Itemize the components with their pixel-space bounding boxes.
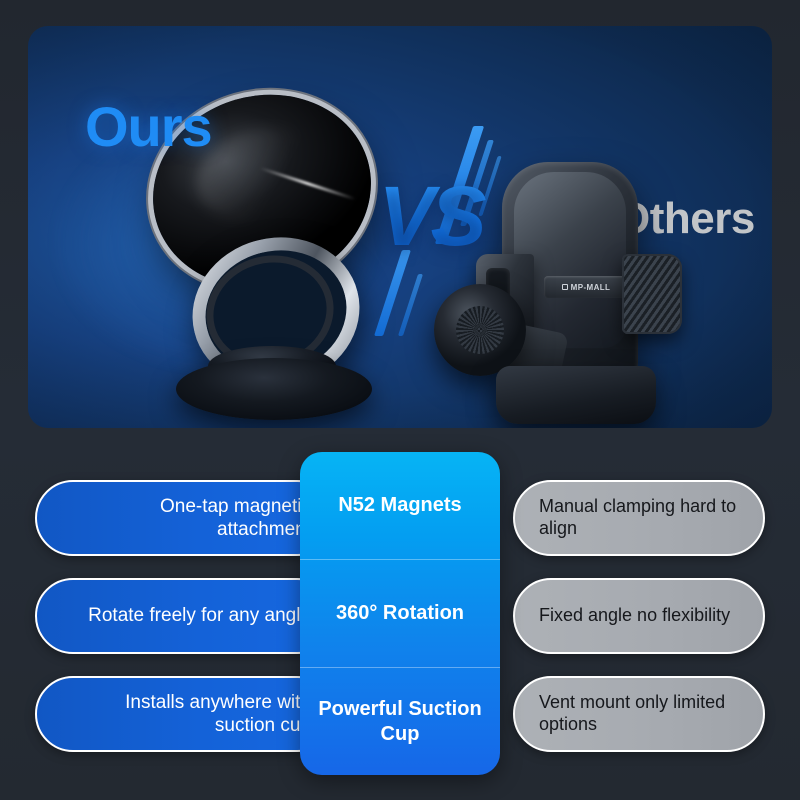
mount-foot [496,366,656,424]
ours-benefit-pill: Installs anywhere with suction cup [35,676,335,752]
ours-benefit-pill: One-tap magnetic attachment [35,480,335,556]
suction-cup-base [176,358,372,420]
brand-badge-label: MP-MALL [571,283,611,292]
feature-cell: N52 Magnets [300,452,500,559]
lightning-stroke-icon [398,274,423,336]
brand-badge: MP-MALL [544,276,628,298]
page-background: MP-MALL VS Others Ours One-tap magnetic … [0,0,800,800]
clamp-arm-right [622,254,682,334]
others-drawback-pill: Manual clamping hard to align [513,480,765,556]
others-drawback-pill: Vent mount only limited options [513,676,765,752]
feature-cell: Powerful Suction Cup [300,667,500,775]
hero-comparison-banner: MP-MALL VS Others Ours [28,26,772,428]
ours-benefit-pill: Rotate freely for any angle [35,578,335,654]
versus-badge: VS [358,122,503,337]
ours-label: Ours [85,94,212,159]
feature-cell: 360° Rotation [300,559,500,667]
versus-label: VS [358,174,503,258]
brand-mark-icon [562,284,568,290]
feature-highlight-card: N52 Magnets 360° Rotation Powerful Sucti… [300,452,500,775]
others-drawback-pill: Fixed angle no flexibility [513,578,765,654]
comparison-table: One-tap magnetic attachment Manual clamp… [0,452,800,782]
